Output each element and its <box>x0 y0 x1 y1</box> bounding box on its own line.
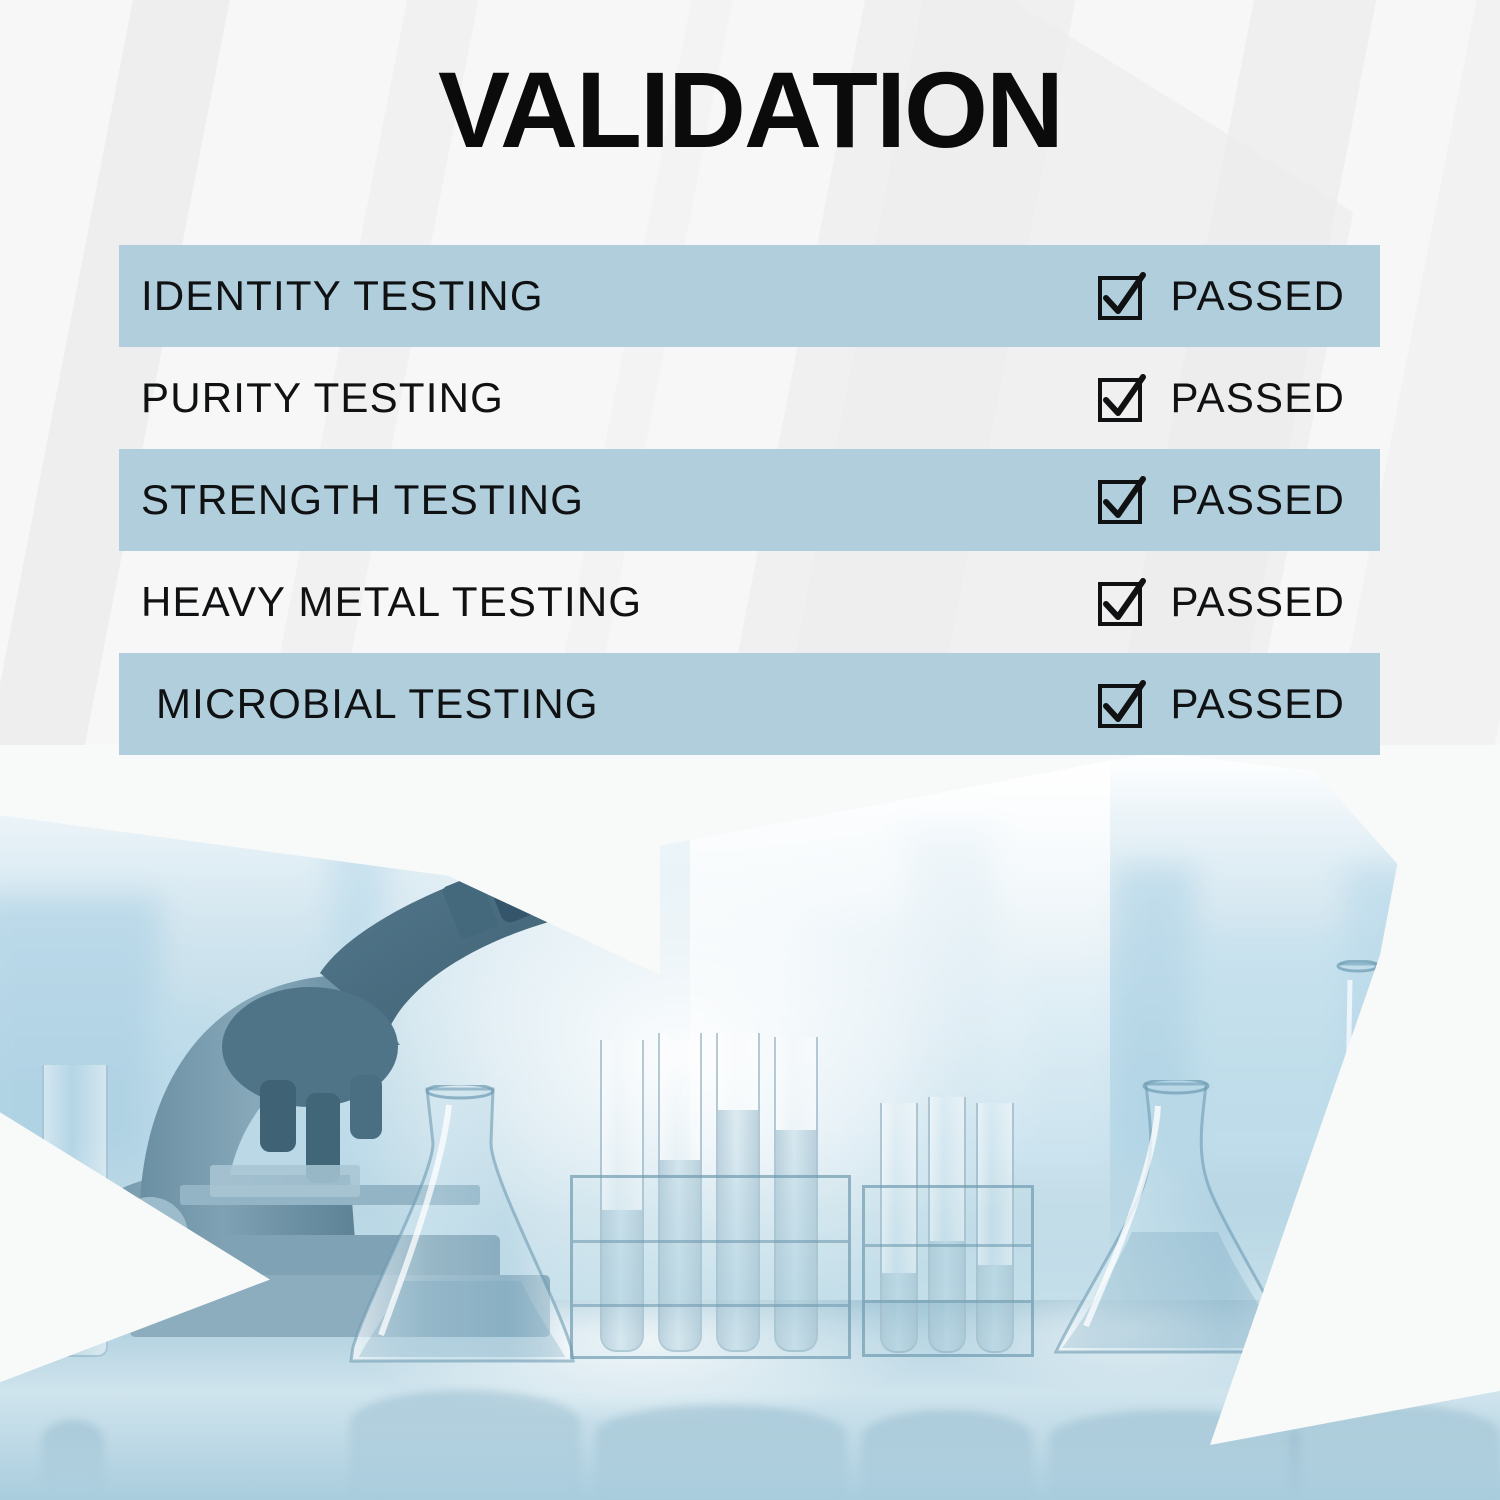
checklist-row[interactable]: STRENGTH TESTING PASSED <box>119 449 1380 551</box>
status-badge: PASSED <box>1171 374 1345 422</box>
status-badge: PASSED <box>1171 578 1345 626</box>
validation-checklist: IDENTITY TESTING PASSED PURITY TESTING <box>119 245 1380 755</box>
checklist-row[interactable]: HEAVY METAL TESTING PASSED <box>119 551 1380 653</box>
erlenmeyer-flask <box>345 1085 580 1375</box>
status-group: PASSED <box>1098 578 1380 626</box>
checked-checkbox-icon[interactable] <box>1098 681 1145 728</box>
test-name: PURITY TESTING <box>119 374 504 422</box>
checked-checkbox-icon[interactable] <box>1098 375 1145 422</box>
checklist-row[interactable]: PURITY TESTING PASSED <box>119 347 1380 449</box>
test-name: HEAVY METAL TESTING <box>119 578 642 626</box>
checked-checkbox-icon[interactable] <box>1098 579 1145 626</box>
checked-checkbox-icon[interactable] <box>1098 477 1145 524</box>
status-badge: PASSED <box>1171 476 1345 524</box>
page-title: VALIDATION <box>0 55 1500 165</box>
test-name: MICROBIAL TESTING <box>119 680 599 728</box>
lab-photo <box>0 745 1500 1500</box>
status-group: PASSED <box>1098 272 1380 320</box>
checklist-row[interactable]: MICROBIAL TESTING PASSED <box>119 653 1380 755</box>
test-name: STRENGTH TESTING <box>119 476 584 524</box>
status-badge: PASSED <box>1171 272 1345 320</box>
checked-checkbox-icon[interactable] <box>1098 273 1145 320</box>
status-group: PASSED <box>1098 680 1380 728</box>
test-name: IDENTITY TESTING <box>119 272 544 320</box>
status-badge: PASSED <box>1171 680 1345 728</box>
status-group: PASSED <box>1098 374 1380 422</box>
status-group: PASSED <box>1098 476 1380 524</box>
poster-canvas: VALIDATION IDENTITY TESTING PASSED PURIT… <box>0 0 1500 1500</box>
checklist-row[interactable]: IDENTITY TESTING PASSED <box>119 245 1380 347</box>
